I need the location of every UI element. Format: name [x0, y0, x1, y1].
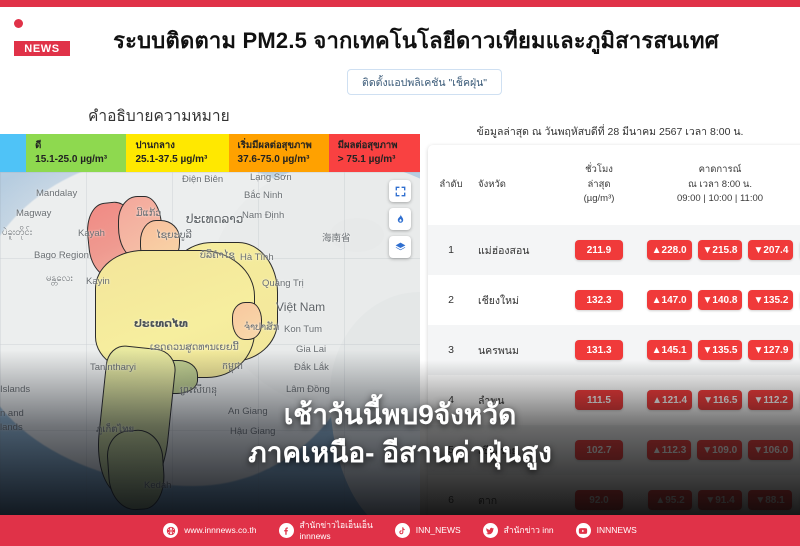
legend-range: 25.1-37.5 µg/m³: [135, 153, 228, 168]
legend-segment-4: มีผลต่อสุขภาพ> 75.1 µg/m³: [329, 134, 420, 172]
map-label: Kayin: [86, 276, 110, 287]
map-label: ບໍລິຄຳໄຊ: [200, 250, 235, 261]
forecast-value-badge: ▲112.3: [647, 440, 691, 460]
footer-label: INNNEWS: [597, 525, 637, 536]
cell-rank: 1: [428, 244, 474, 256]
footer-label: www.innnews.co.th: [184, 525, 256, 536]
top-accent-bar: [0, 0, 800, 7]
cell-latest: 131.3: [558, 340, 640, 360]
footer-label: INN_NEWS: [416, 525, 461, 536]
map-label: Magway: [16, 208, 51, 219]
map-label: ภูเก็ตไทย: [96, 422, 134, 437]
layers-icon[interactable]: [389, 236, 411, 258]
map-label: Islands: [0, 384, 30, 395]
cell-province: ตาก: [474, 492, 558, 509]
map-label: Tanintharyi: [90, 362, 136, 373]
header-province: จังหวัด: [474, 154, 558, 225]
map-label: Điện Biên: [182, 174, 223, 185]
cell-forecast: ▲112.3▼109.0▼106.0: [640, 440, 800, 460]
youtube-icon: [576, 523, 591, 538]
map-label: ព្រះសីហនុ: [180, 384, 217, 398]
cell-latest: 102.7: [558, 440, 640, 460]
province-zone-isan-high: [232, 302, 262, 340]
table-header-row: ลำดับ จังหวัด ชั่วโมง ล่าสุด (µg/m³) คาด…: [428, 145, 800, 225]
map-label: Lâm Đồng: [286, 384, 330, 395]
cell-rank: 2: [428, 294, 474, 306]
legend-segment-1: ดี15.1-25.0 µg/m³: [26, 134, 126, 172]
facebook-icon: [279, 523, 294, 538]
header-forecast-line1: คาดการณ์: [640, 163, 800, 178]
forecast-value-badge: ▼135.2: [748, 290, 793, 310]
legend-segment-3: เริ่มมีผลต่อสุขภาพ37.6-75.0 µg/m³: [229, 134, 329, 172]
pm25-map[interactable]: MandalayMagwayKayahBago RegionKayinမန္တလ…: [0, 172, 420, 520]
map-label: Kedah: [144, 480, 171, 491]
cell-province: นครพนม: [474, 342, 558, 359]
map-label: ປະເທດລາວ: [186, 212, 243, 226]
header-forecast: คาดการณ์ ณ เวลา 8:00 น. 09:00 | 10:00 | …: [640, 154, 800, 225]
legend-level: มีผลต่อสุขภาพ: [338, 139, 420, 153]
footer-label-line1: สำนักข่าวไอเอ็นเอ็น: [300, 520, 373, 530]
cell-forecast: ▲147.0▼140.8▼135.2: [640, 290, 800, 310]
forecast-value-badge: ▼140.8: [698, 290, 743, 310]
cell-latest: 211.9: [558, 240, 640, 260]
table-row[interactable]: 2เชียงใหม่132.3▲147.0▼140.8▼135.2: [428, 275, 800, 325]
forecast-value-badge: ▼215.8: [698, 240, 743, 260]
header-latest-line2: ล่าสุด: [558, 178, 640, 193]
footer-item[interactable]: INNNEWS: [576, 523, 637, 538]
map-label: កម្ពុជា: [222, 360, 243, 374]
footer-label-line1: www.innnews.co.th: [184, 525, 256, 535]
table-row[interactable]: 5เชียงราย102.7▲112.3▼109.0▼106.0: [428, 425, 800, 475]
cell-forecast: ▲145.1▼135.5▼127.9: [640, 340, 800, 360]
data-timestamp: ข้อมูลล่าสุด ณ วันพฤหัสบดีที่ 28 มีนาคม …: [420, 123, 800, 140]
footer-item[interactable]: INN_NEWS: [395, 523, 461, 538]
forecast-value-badge: ▲145.1: [647, 340, 692, 360]
map-label: 海南省: [322, 230, 351, 244]
forecast-value-badge: ▲228.0: [647, 240, 692, 260]
footer-label: สำนักข่าว inn: [504, 525, 554, 536]
map-label: Lạng Sơn: [250, 172, 292, 183]
legend-level: ปานกลาง: [135, 139, 228, 153]
header-latest-unit: (µg/m³): [558, 192, 640, 207]
install-app-button[interactable]: ติดตั้งแอปพลิเคชัน "เช็คฝุ่น": [347, 69, 502, 95]
map-label: Bắc Ninh: [244, 190, 283, 201]
map-label: ပဲခူးတိုင်း: [2, 226, 32, 240]
legend-range: 37.6-75.0 µg/m³: [238, 153, 329, 168]
header-rank: ลำดับ: [428, 154, 474, 225]
cell-rank: 5: [428, 444, 474, 456]
map-label: Kon Tum: [284, 324, 322, 335]
map-label: An Giang: [228, 406, 268, 417]
footer-label-line2: innnews: [300, 531, 373, 542]
map-label: Việt Nam: [276, 300, 325, 314]
cell-province: เชียงใหม่: [474, 292, 558, 309]
map-label: ໄຊຍະບູລີ: [156, 230, 192, 241]
news-graphic: NEWS ระบบติดตาม PM2.5 จากเทคโนโลยีดาวเที…: [0, 0, 800, 546]
map-label: Hà Tĩnh: [240, 252, 274, 263]
footer-item[interactable]: สำนักข่าวไอเอ็นเอ็นinnnews: [279, 520, 373, 541]
social-footer: www.innnews.co.thสำนักข่าวไอเอ็นเอ็นinnn…: [0, 515, 800, 546]
footer-label: สำนักข่าวไอเอ็นเอ็นinnnews: [300, 520, 373, 541]
forecast-value-badge: ▼106.0: [748, 440, 793, 460]
globe-icon: [163, 523, 178, 538]
table-body[interactable]: 1แม่ฮ่องสอน211.9▲228.0▼215.8▼207.42เชียง…: [428, 225, 800, 520]
footer-item[interactable]: สำนักข่าว inn: [483, 523, 554, 538]
cell-rank: 6: [428, 494, 474, 506]
forecast-value-badge: ▼112.2: [748, 390, 792, 410]
map-label: ມີແກ້ວ: [136, 208, 161, 219]
map-label: Đắk Lắk: [294, 362, 329, 373]
table-row[interactable]: 6ตาก92.0▲95.2▼91.4▼88.1: [428, 475, 800, 520]
map-label: ຈຳປາສັກ: [244, 322, 279, 333]
map-label: Gia Lai: [296, 344, 326, 355]
latest-value-badge: 211.9: [575, 240, 623, 260]
cell-province: แม่ฮ่องสอน: [474, 242, 558, 259]
header-forecast-times: 09:00 | 10:00 | 11:00: [640, 192, 800, 207]
map-label: Bago Region: [34, 250, 89, 261]
footer-label-line1: สำนักข่าว inn: [504, 525, 554, 535]
cell-latest: 111.5: [558, 390, 640, 410]
cell-forecast: ▲121.4▼116.5▼112.2: [640, 390, 800, 410]
latest-value-badge: 102.7: [575, 440, 623, 460]
map-controls[interactable]: [389, 180, 411, 258]
map-label: lands: [0, 422, 23, 433]
table-row[interactable]: 4ลำพูน111.5▲121.4▼116.5▼112.2: [428, 375, 800, 425]
cell-latest: 132.3: [558, 290, 640, 310]
legend-segment-2: ปานกลาง25.1-37.5 µg/m³: [126, 134, 228, 172]
twitter-icon: [483, 523, 498, 538]
forecast-value-badge: ▼207.4: [748, 240, 793, 260]
map-label: Nam Định: [242, 210, 284, 221]
latest-value-badge: 131.3: [575, 340, 623, 360]
fullscreen-icon[interactable]: [389, 180, 411, 202]
latest-value-badge: 111.5: [575, 390, 623, 410]
map-label: Hậu Giang: [230, 426, 275, 437]
forecast-value-badge: ▼88.1: [748, 490, 792, 510]
footer-item[interactable]: www.innnews.co.th: [163, 523, 256, 538]
cell-province: เชียงราย: [474, 442, 558, 459]
forecast-value-badge: ▲121.4: [647, 390, 692, 410]
map-label: n and: [0, 408, 24, 419]
cell-rank: 4: [428, 394, 474, 406]
forecast-value-badge: ▼116.5: [698, 390, 742, 410]
map-label: Mandalay: [36, 188, 77, 199]
footer-label-line1: INNNEWS: [597, 525, 637, 535]
latest-value-badge: 132.3: [575, 290, 623, 310]
map-label: Kayah: [78, 228, 105, 239]
forecast-value-badge: ▼109.0: [697, 440, 742, 460]
cell-forecast: ▲95.2▼91.4▼88.1: [640, 490, 800, 510]
cell-latest: 92.0: [558, 490, 640, 510]
map-label: မန္တလေး: [46, 272, 73, 286]
cell-rank: 3: [428, 344, 474, 356]
forecast-value-badge: ▲147.0: [647, 290, 692, 310]
forecast-value-badge: ▲95.2: [648, 490, 692, 510]
latest-value-badge: 92.0: [575, 490, 623, 510]
legend-title: คำอธิบายความหมาย: [88, 103, 230, 128]
legend-level: ดี: [35, 139, 126, 153]
map-label: ເຂດຄວນສູດທານເຍຍນີ້: [150, 342, 239, 353]
cell-forecast: ▲228.0▼215.8▼207.4: [640, 240, 800, 260]
table-row[interactable]: 3นครพนม131.3▲145.1▼135.5▼127.9: [428, 325, 800, 375]
map-label: ປະເທດໄທ: [134, 316, 188, 333]
legend-range: 15.1-25.0 µg/m³: [35, 153, 126, 168]
forecast-value-badge: ▼135.5: [698, 340, 743, 360]
forecast-value-badge: ▼91.4: [698, 490, 742, 510]
ranking-table[interactable]: ลำดับ จังหวัด ชั่วโมง ล่าสุด (µg/m³) คาด…: [428, 145, 800, 520]
cell-province: ลำพูน: [474, 392, 558, 409]
footer-label-line1: INN_NEWS: [416, 525, 461, 535]
tiktok-icon: [395, 523, 410, 538]
brand-dot: [14, 19, 23, 28]
header-forecast-line2: ณ เวลา 8:00 น.: [640, 178, 800, 193]
table-row[interactable]: 1แม่ฮ่องสอน211.9▲228.0▼215.8▼207.4: [428, 225, 800, 275]
forecast-value-badge: ▼127.9: [748, 340, 793, 360]
header-latest-hour: ชั่วโมง ล่าสุด (µg/m³): [558, 154, 640, 225]
legend-range: > 75.1 µg/m³: [338, 153, 420, 168]
pm25-legend: ดี15.1-25.0 µg/m³ปานกลาง25.1-37.5 µg/m³เ…: [0, 134, 420, 172]
map-label: Quảng Trị: [262, 278, 304, 289]
legend-segment-0: [0, 134, 26, 172]
legend-level: เริ่มมีผลต่อสุขภาพ: [238, 139, 329, 153]
page-title: ระบบติดตาม PM2.5 จากเทคโนโลยีดาวเทียมและ…: [96, 23, 736, 58]
news-badge: NEWS: [14, 41, 70, 56]
fire-hotspot-icon[interactable]: [389, 208, 411, 230]
header-latest-line1: ชั่วโมง: [558, 163, 640, 178]
